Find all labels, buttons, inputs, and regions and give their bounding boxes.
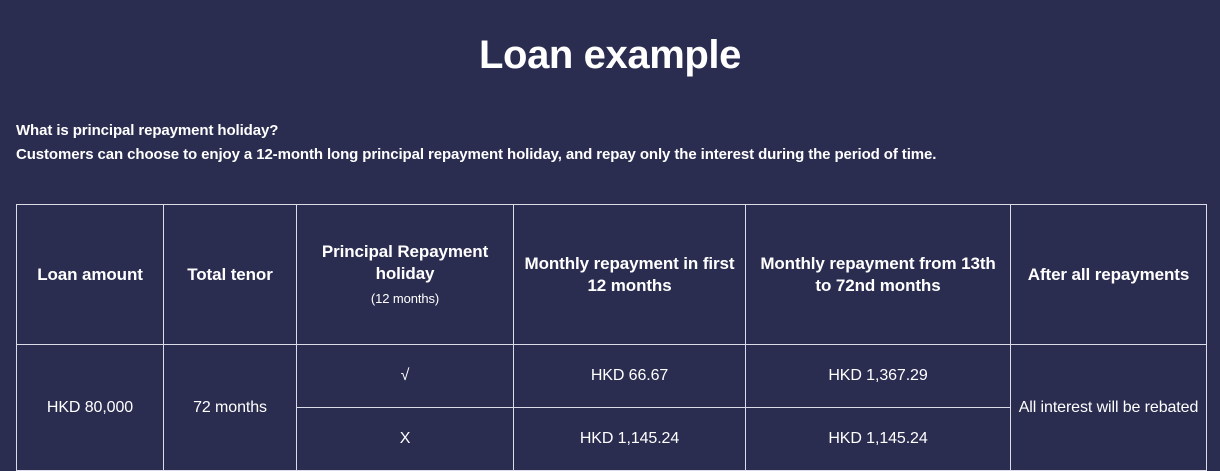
cell-loan-amount: HKD 80,000: [17, 345, 164, 471]
loan-example-page: Loan example What is principal repayment…: [0, 0, 1220, 443]
column-header-principal-repayment-holiday-sub: (12 months): [303, 289, 507, 309]
table-header: Loan amount Total tenor Principal Repaym…: [17, 205, 1207, 345]
table-body: HKD 80,000 72 months √ HKD 66.67 HKD 1,3…: [17, 345, 1207, 471]
cell-holiday-no: X: [297, 408, 514, 471]
column-header-monthly-repayment-13-to-72: Monthly repayment from 13th to 72nd mont…: [746, 205, 1011, 345]
loan-example-table: Loan amount Total tenor Principal Repaym…: [16, 204, 1207, 471]
column-header-principal-repayment-holiday-main: Principal Repayment holiday: [322, 242, 488, 283]
table-header-row: Loan amount Total tenor Principal Repaym…: [17, 205, 1207, 345]
table-row: HKD 80,000 72 months √ HKD 66.67 HKD 1,3…: [17, 345, 1207, 408]
column-header-total-tenor: Total tenor: [164, 205, 297, 345]
column-header-loan-amount: Loan amount: [17, 205, 164, 345]
intro-question: What is principal repayment holiday?: [16, 119, 1196, 143]
page-title: Loan example: [0, 31, 1220, 79]
column-header-monthly-repayment-first-12: Monthly repayment in first 12 months: [514, 205, 746, 345]
column-header-principal-repayment-holiday: Principal Repayment holiday (12 months): [297, 205, 514, 345]
cell-13-to-72-without-holiday: HKD 1,145.24: [746, 408, 1011, 471]
intro-answer: Customers can choose to enjoy a 12-month…: [16, 143, 1196, 167]
column-header-after-all-repayments: After all repayments: [1011, 205, 1207, 345]
cell-after-all-repayments: All interest will be rebated: [1011, 345, 1207, 471]
cell-first-12-without-holiday: HKD 1,145.24: [514, 408, 746, 471]
intro-block: What is principal repayment holiday? Cus…: [16, 119, 1196, 167]
cell-total-tenor: 72 months: [164, 345, 297, 471]
cell-holiday-yes: √: [297, 345, 514, 408]
cell-first-12-with-holiday: HKD 66.67: [514, 345, 746, 408]
cell-13-to-72-with-holiday: HKD 1,367.29: [746, 345, 1011, 408]
